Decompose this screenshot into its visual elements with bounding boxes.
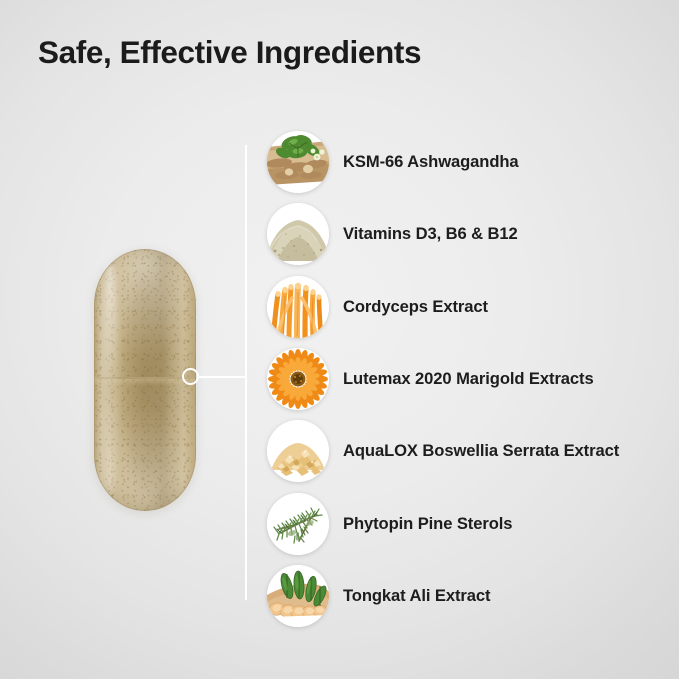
page-title: Safe, Effective Ingredients: [38, 34, 421, 71]
callout-connector-horizontal: [198, 376, 246, 378]
ingredient-label: Tongkat Ali Extract: [343, 586, 490, 606]
list-item: KSM-66 Ashwagandha: [267, 126, 667, 198]
list-item: AquaLOX Boswellia Serrata Extract: [267, 415, 667, 487]
list-item: Tongkat Ali Extract: [267, 560, 667, 632]
ashwagandha-root-icon: [267, 131, 329, 193]
ingredient-label: AquaLOX Boswellia Serrata Extract: [343, 441, 619, 461]
callout-connector-vertical: [245, 145, 247, 600]
ingredients-infographic: Safe, Effective Ingredients: [0, 0, 679, 679]
ingredient-label: KSM-66 Ashwagandha: [343, 152, 519, 172]
pine-needles-icon: [267, 493, 329, 555]
ingredient-label: Vitamins D3, B6 & B12: [343, 224, 518, 244]
ingredient-label: Cordyceps Extract: [343, 297, 488, 317]
boswellia-resin-icon: [267, 420, 329, 482]
callout-marker-icon: [182, 368, 199, 385]
list-item: Lutemax 2020 Marigold Extracts: [267, 343, 667, 415]
capsule-outline: [94, 249, 196, 511]
ingredient-list: KSM-66 Ashwagandha: [267, 126, 667, 632]
list-item: Cordyceps Extract: [267, 271, 667, 343]
cordyceps-mushroom-icon: [267, 276, 329, 338]
marigold-flower-icon: [267, 348, 329, 410]
vitamin-powder-icon: [267, 203, 329, 265]
list-item: Phytopin Pine Sterols: [267, 487, 667, 559]
tongkat-ali-root-icon: [267, 565, 329, 627]
ingredient-label: Lutemax 2020 Marigold Extracts: [343, 369, 594, 389]
capsule-body: [94, 249, 196, 511]
ingredient-label: Phytopin Pine Sterols: [343, 514, 512, 534]
list-item: Vitamins D3, B6 & B12: [267, 198, 667, 270]
product-capsule-image: [94, 249, 196, 511]
